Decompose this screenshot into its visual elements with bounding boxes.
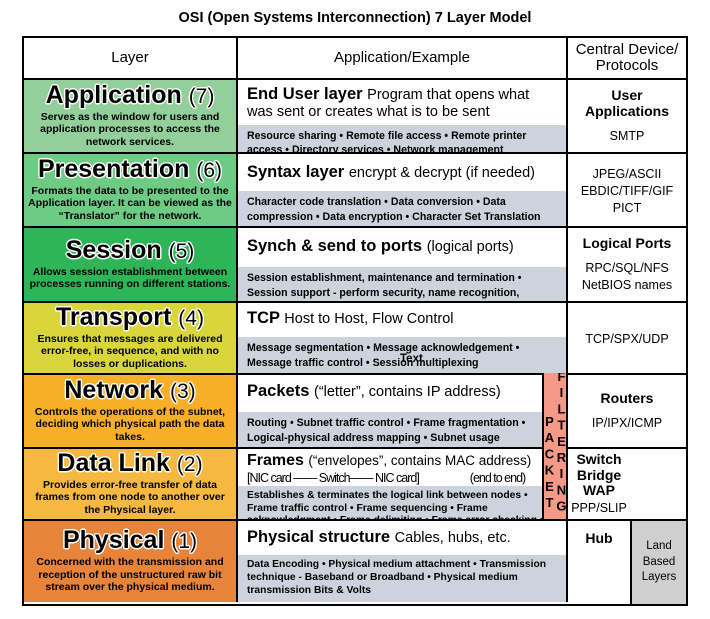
device-protocols-line3-presentation: PICT	[613, 201, 641, 216]
example-title-rest-network: (“letter”, contains IP address)	[314, 384, 501, 400]
layer-example-cell-presentation: Syntax layer encrypt & decrypt (if neede…	[238, 154, 568, 226]
device-protocols-line1-datalink: PPP/SLIP	[571, 501, 627, 516]
table-header-row: Layer Application/Example Central Device…	[24, 38, 686, 80]
device-protocols-line2-presentation: EBDIC/TIFF/GIF	[581, 184, 673, 199]
layer-example-cell-application: End User layer Program that opens what w…	[238, 80, 568, 152]
example-details-physical: Data Encoding • Physical medium attachme…	[238, 555, 566, 602]
layer-title-physical: Physical (1)	[63, 528, 197, 553]
example-heading-application: End User layer Program that opens what w…	[238, 80, 566, 125]
example-title-rest-transport: Host to Host, Flow Control	[284, 311, 453, 327]
device-bold-physical: Hub	[585, 531, 612, 547]
header-cell-layer: Layer	[24, 38, 238, 78]
device-cell-network: Routers IP/IPX/ICMP	[568, 375, 686, 447]
page-title: OSI (Open Systems Interconnection) 7 Lay…	[0, 10, 710, 26]
example-subtitle-application: was sent or creates what is to be sent	[247, 104, 559, 121]
layer-name-cell-application: Application (7) Serves as the window for…	[24, 80, 238, 152]
example-title-rest-physical: Cables, hubs, etc.	[395, 530, 511, 546]
header-device-line1: Central Device/	[576, 42, 679, 58]
device-bold-session: Logical Ports	[583, 236, 672, 252]
example-title-bold-network: Packets	[247, 382, 309, 400]
example-details-presentation: Character code translation • Data conver…	[238, 191, 566, 228]
layer-row-presentation: Presentation (6) Formats the data to be …	[24, 152, 686, 226]
layer-example-cell-datalink: Frames (“envelopes”, contains MAC addres…	[238, 449, 568, 519]
example-title-rest-datalink: (“envelopes”, contains MAC address)	[308, 453, 531, 468]
example-details-transport: Message segmentation • Message acknowled…	[238, 337, 566, 374]
layer-row-datalink: Data Link (2) Provides error-free transf…	[24, 447, 686, 519]
osi-model-diagram: OSI (Open Systems Interconnection) 7 Lay…	[0, 0, 710, 619]
device-bold-line3-datalink: WAP	[576, 483, 621, 499]
device-cell-application: User Applications SMTP	[568, 80, 686, 152]
header-cell-device: Central Device/ Protocols	[568, 38, 686, 78]
layer-name-cell-presentation: Presentation (6) Formats the data to be …	[24, 154, 238, 226]
example-title-rest-application: Program that opens what	[367, 87, 529, 103]
layer-description-physical: Concerned with the transmission and rece…	[28, 556, 232, 593]
device-bold-line2-application: Applications	[585, 104, 669, 120]
layer-description-network: Controls the operations of the subnet, d…	[28, 406, 232, 443]
example-title-bold-datalink: Frames	[247, 452, 304, 469]
layer-example-cell-physical: Physical structure Cables, hubs, etc. Da…	[238, 521, 568, 602]
layer-name-cell-physical: Physical (1) Concerned with the transmis…	[24, 521, 238, 602]
example-title-bold-presentation: Syntax layer	[247, 163, 344, 181]
example-heading-session: Synch & send to ports (logical ports)	[238, 228, 566, 267]
layer-description-application: Serves as the window for users and appli…	[28, 111, 232, 148]
example-title-bold-application: End User layer	[247, 85, 363, 103]
layer-title-presentation: Presentation (6)	[38, 157, 222, 182]
layer-name-cell-transport: Transport (4) Ensures that messages are …	[24, 303, 238, 373]
header-device-line2: Protocols	[576, 58, 679, 74]
example-heading-presentation: Syntax layer encrypt & decrypt (if neede…	[238, 154, 566, 191]
land-based-line2: Based	[642, 555, 677, 571]
device-protocols-line1-network: IP/IPX/ICMP	[592, 416, 662, 431]
layer-row-network: Network (3) Controls the operations of t…	[24, 373, 686, 447]
example-title-rest-presentation: encrypt & decrypt (if needed)	[349, 165, 535, 181]
header-cell-application: Application/Example	[238, 38, 568, 78]
example-title-bold-physical: Physical structure	[247, 528, 390, 546]
example-heading-physical: Physical structure Cables, hubs, etc.	[238, 521, 566, 555]
device-cell-presentation: JPEG/ASCII EBDIC/TIFF/GIF PICT	[568, 154, 686, 226]
device-bold-network: Routers	[601, 391, 654, 407]
layer-title-datalink: Data Link (2)	[57, 451, 202, 476]
land-based-line1: Land	[642, 539, 677, 555]
device-protocols-application: SMTP	[610, 129, 645, 144]
layer-title-transport: Transport (4)	[56, 305, 204, 330]
osi-table: Layer Application/Example Central Device…	[22, 36, 688, 606]
layer-title-session: Session (5)	[66, 238, 195, 263]
packet-filtering-box: PACKET FILTERING	[542, 373, 568, 519]
layer-name-cell-datalink: Data Link (2) Provides error-free transf…	[24, 449, 238, 519]
device-cell-session: Logical Ports RPC/SQL/NFS NetBIOS names	[568, 228, 686, 301]
layer-row-physical: Physical (1) Concerned with the transmis…	[24, 519, 686, 602]
device-bold-line1-datalink: Switch	[576, 452, 621, 468]
device-protocols-line1-session: RPC/SQL/NFS	[585, 261, 668, 276]
packet-filtering-word-filtering: FILTERING	[555, 373, 567, 515]
layer-row-session: Session (5) Allows session establishment…	[24, 226, 686, 301]
device-bold-line1-application: User	[585, 88, 669, 104]
device-bold-line2-datalink: Bridge	[576, 468, 621, 484]
example-title-bold-session: Synch & send to ports	[247, 237, 422, 255]
layer-name-cell-network: Network (3) Controls the operations of t…	[24, 375, 238, 447]
layer-description-transport: Ensures that messages are delivered erro…	[28, 333, 232, 370]
example-subtitle-datalink: [NIC card —— Switch—— NIC card]	[247, 471, 419, 485]
example-subtitle-right-datalink: (end to end)	[470, 471, 525, 485]
layer-example-cell-transport: TCP Host to Host, Flow Control Message s…	[238, 303, 568, 373]
layer-row-application: Application (7) Serves as the window for…	[24, 80, 686, 152]
layer-example-cell-session: Synch & send to ports (logical ports) Se…	[238, 228, 568, 301]
layer-title-application: Application (7)	[46, 83, 215, 108]
layer-name-cell-session: Session (5) Allows session establishment…	[24, 228, 238, 301]
land-based-layers-box: Land Based Layers	[630, 521, 686, 604]
layer-title-network: Network (3)	[64, 378, 195, 403]
layer-example-cell-network: Packets (“letter”, contains IP address) …	[238, 375, 568, 447]
device-cell-datalink: Switch Bridge WAP PPP/SLIP	[568, 449, 686, 519]
example-heading-transport: TCP Host to Host, Flow Control	[238, 303, 566, 337]
device-cell-transport: TCP/SPX/UDP	[568, 303, 686, 373]
device-protocols-line1-presentation: JPEG/ASCII	[593, 167, 662, 182]
layer-description-session: Allows session establishment between pro…	[28, 266, 232, 291]
layer-row-transport: Transport (4) Ensures that messages are …	[24, 301, 686, 373]
example-heading-datalink: Frames (“envelopes”, contains MAC addres…	[238, 449, 566, 486]
example-title-rest-session: (logical ports)	[427, 239, 514, 255]
example-title-bold-transport: TCP	[247, 309, 280, 327]
layer-description-datalink: Provides error-free transfer of data fra…	[28, 479, 232, 516]
example-heading-network: Packets (“letter”, contains IP address)	[238, 375, 566, 412]
device-protocols-line1-transport: TCP/SPX/UDP	[585, 332, 668, 347]
device-protocols-line2-session: NetBIOS names	[582, 278, 672, 293]
land-based-line3: Layers	[642, 570, 677, 586]
layer-description-presentation: Formats the data to be presented to the …	[28, 185, 232, 222]
